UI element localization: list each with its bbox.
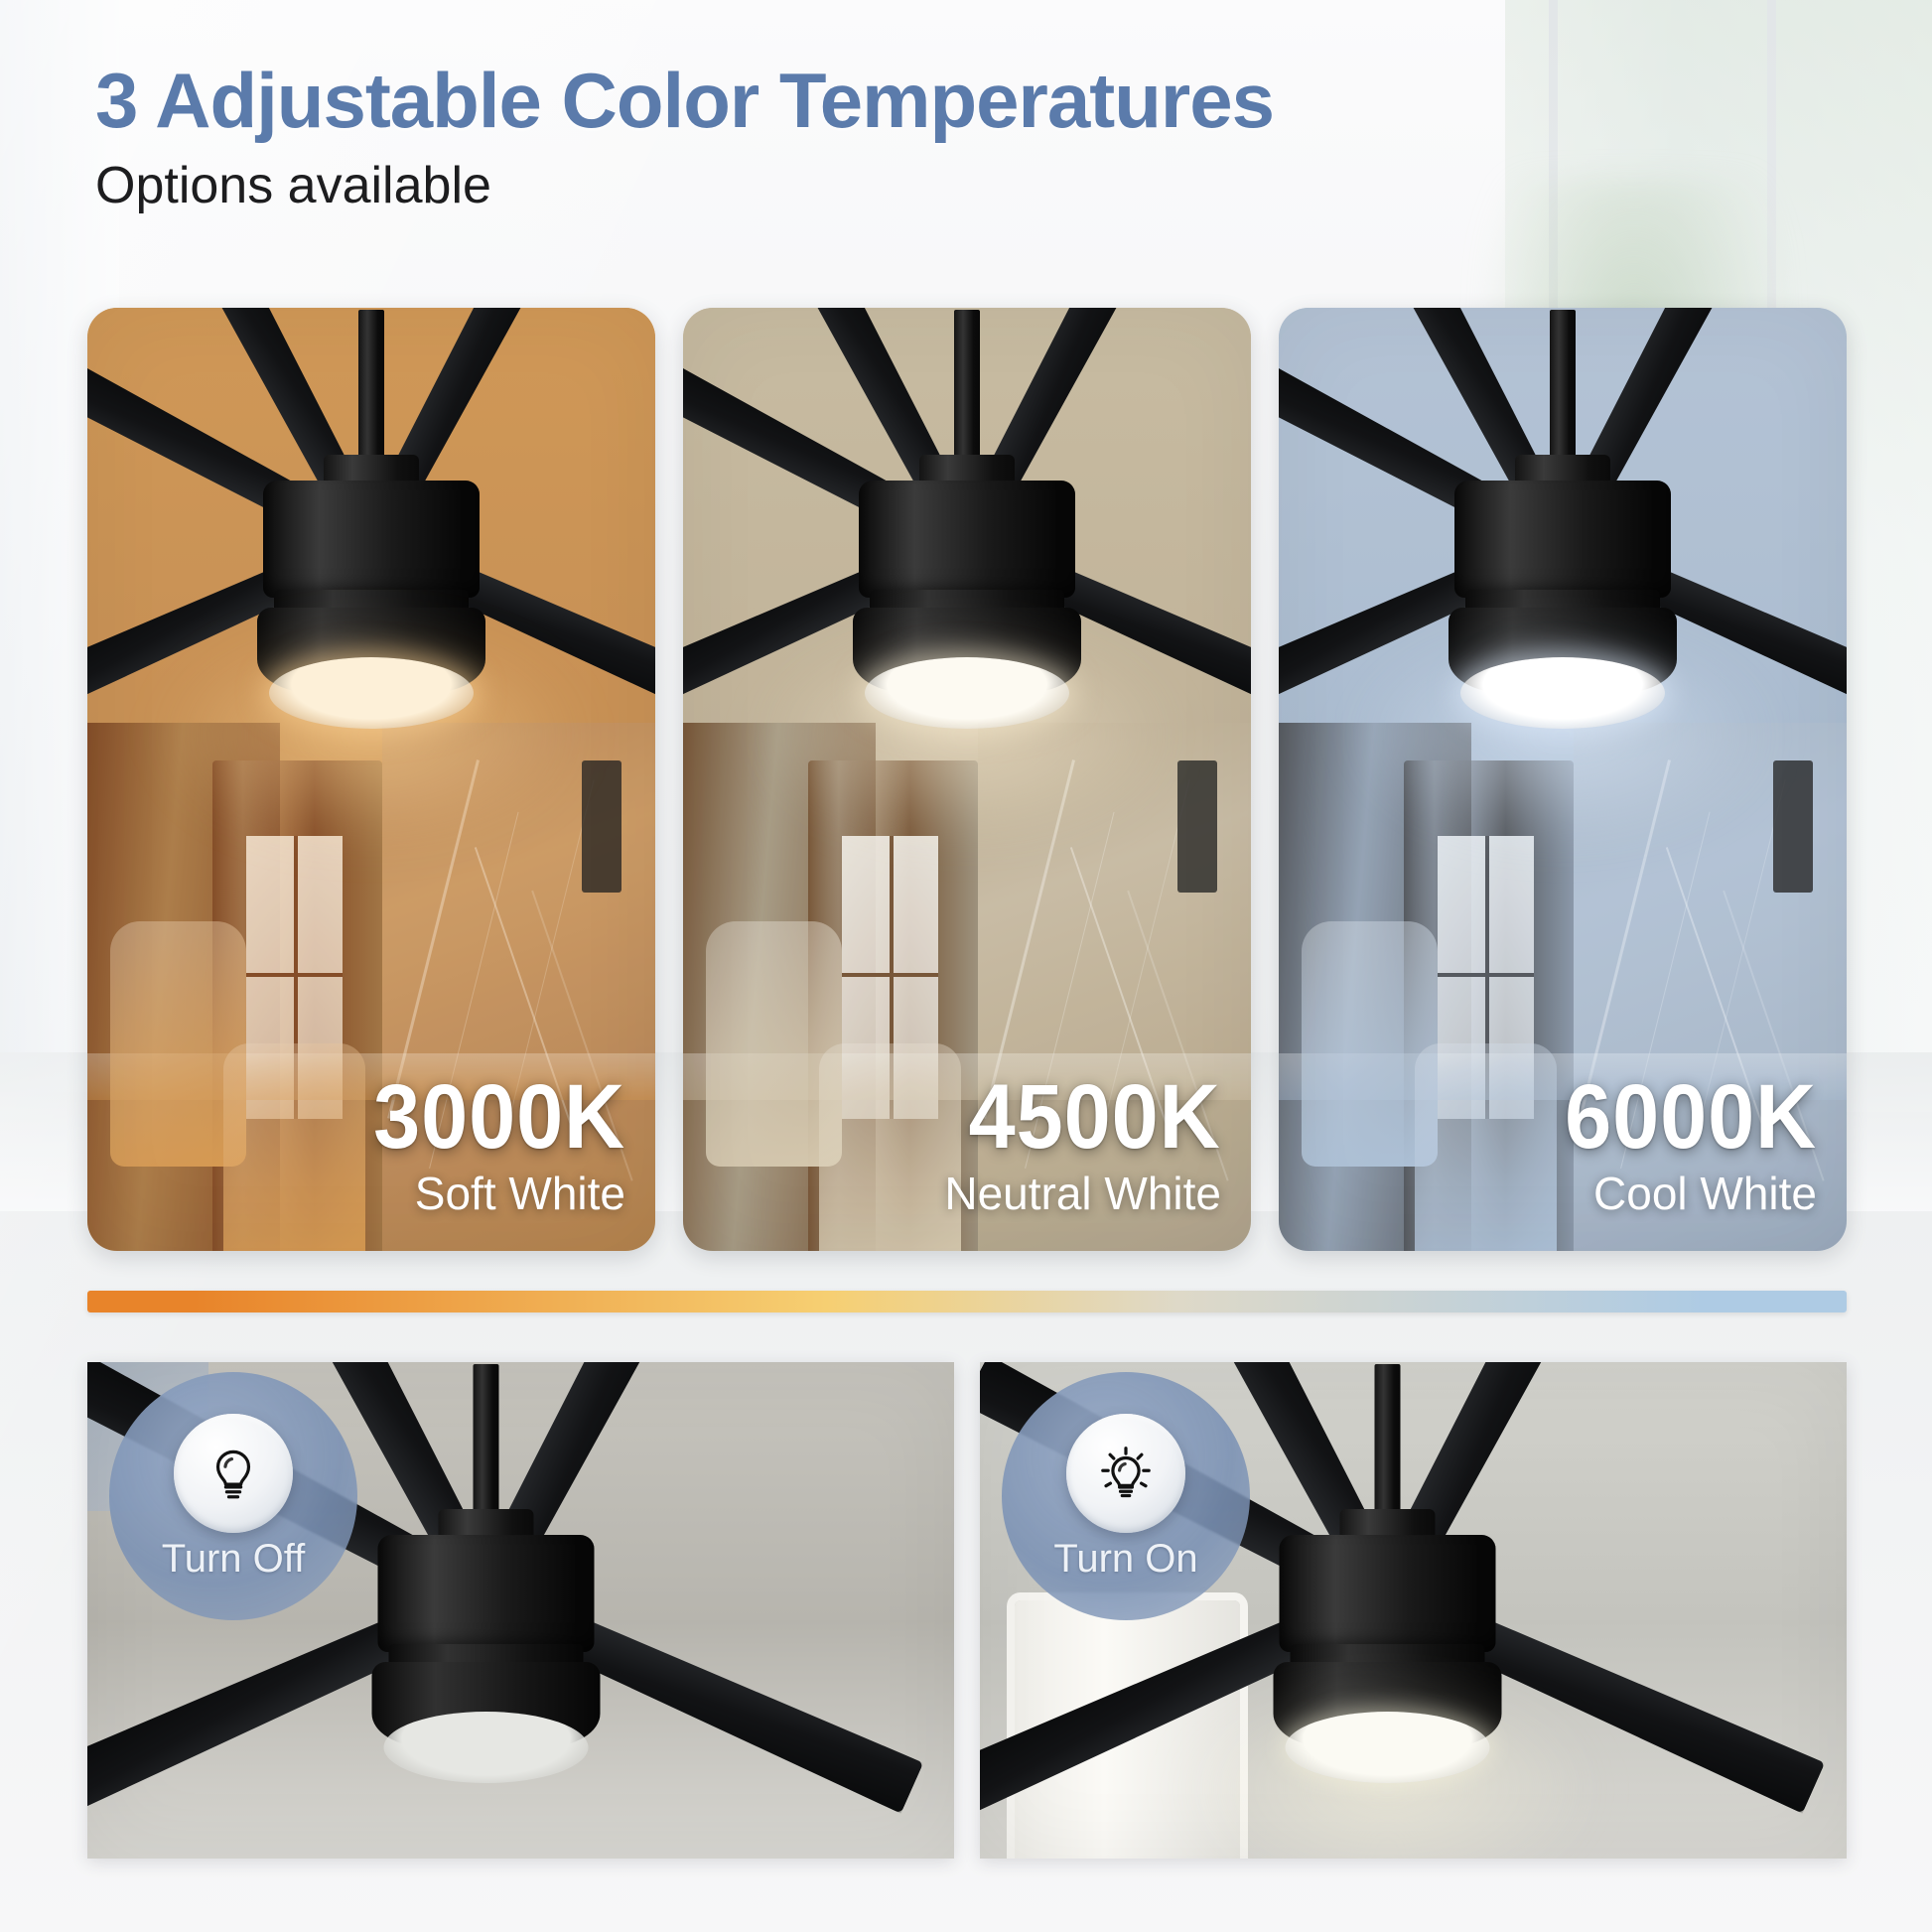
- kelvin-value: 6000K: [1565, 1074, 1817, 1161]
- light-state-panel-off[interactable]: Turn Off: [87, 1362, 954, 1859]
- fan-downrod: [954, 310, 980, 461]
- fan-motor-housing: [859, 481, 1075, 598]
- fan-downrod: [474, 1364, 499, 1515]
- kelvin-name: Soft White: [351, 1170, 625, 1217]
- light-globe: [865, 657, 1069, 729]
- fan-downrod: [358, 310, 384, 461]
- color-temperature-card-3000k[interactable]: 3000K Soft White: [87, 308, 655, 1251]
- kelvin-name: Cool White: [1543, 1170, 1817, 1217]
- fan-motor-housing: [1279, 1535, 1495, 1652]
- light-state-panel-on[interactable]: Turn On: [980, 1362, 1847, 1859]
- color-temperature-card-4500k[interactable]: 4500K Neutral White: [683, 308, 1251, 1251]
- fan-motor-housing: [378, 1535, 595, 1652]
- light-state-label: Turn Off: [162, 1539, 306, 1579]
- header-block: 3 Adjustable Color Temperatures Options …: [95, 62, 1274, 212]
- turn-on-badge[interactable]: Turn On: [1002, 1372, 1250, 1620]
- lightbulb-on-icon[interactable]: [1066, 1414, 1185, 1533]
- page-subtitle: Options available: [95, 159, 1274, 213]
- turn-off-badge[interactable]: Turn Off: [109, 1372, 357, 1620]
- card-label-group: 3000K Soft White: [351, 1074, 625, 1217]
- light-state-panel-row: Turn Off: [87, 1362, 1847, 1859]
- light-globe: [1460, 657, 1665, 729]
- kelvin-name: Neutral White: [944, 1170, 1221, 1217]
- page-title: 3 Adjustable Color Temperatures: [95, 62, 1274, 141]
- card-label-group: 4500K Neutral White: [944, 1074, 1221, 1217]
- lightbulb-off-icon[interactable]: [174, 1414, 293, 1533]
- kelvin-value: 3000K: [373, 1074, 625, 1161]
- color-temperature-card-row: 3000K Soft White: [87, 308, 1847, 1251]
- color-temperature-card-6000k[interactable]: 6000K Cool White: [1279, 308, 1847, 1251]
- light-globe: [1285, 1712, 1489, 1783]
- ceiling-fan: [1279, 310, 1847, 737]
- card-label-group: 6000K Cool White: [1543, 1074, 1817, 1217]
- kelvin-value: 4500K: [967, 1074, 1221, 1161]
- ceiling-fan: [87, 310, 655, 737]
- gradient-divider: [87, 1291, 1847, 1312]
- light-globe: [269, 657, 474, 729]
- ceiling-fan: [683, 310, 1251, 737]
- fan-downrod: [1550, 310, 1576, 461]
- fan-motor-housing: [263, 481, 480, 598]
- light-state-label: Turn On: [1053, 1539, 1197, 1579]
- light-globe: [384, 1712, 589, 1783]
- fan-motor-housing: [1454, 481, 1671, 598]
- fan-downrod: [1374, 1364, 1400, 1515]
